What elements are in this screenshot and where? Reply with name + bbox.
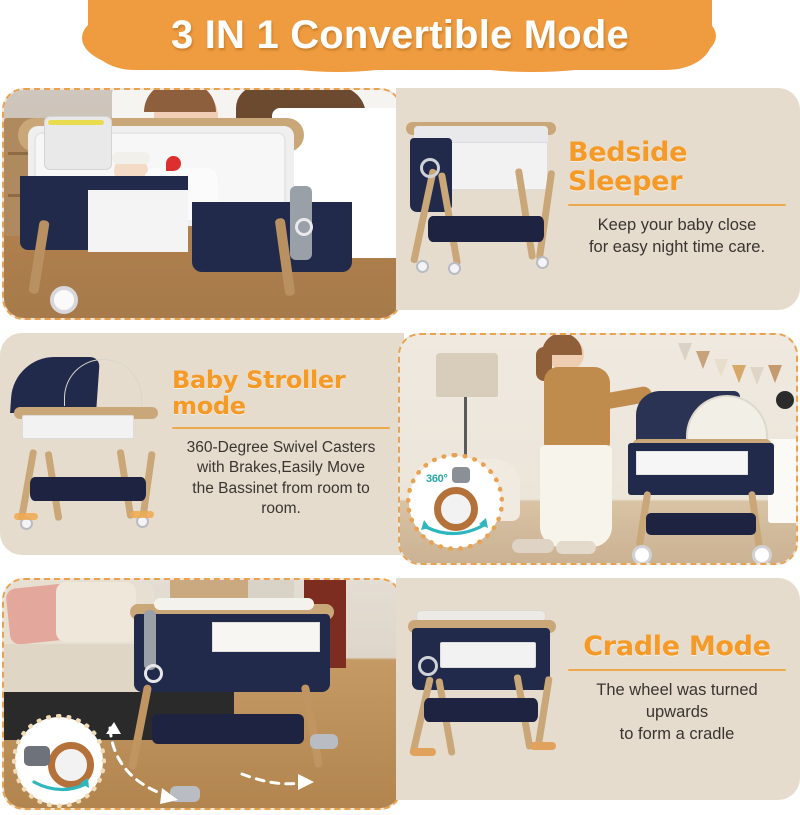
baby-toy xyxy=(166,156,181,171)
photo-cradle-mode xyxy=(2,578,402,810)
rocker-foot-left xyxy=(410,748,436,756)
storage-basket xyxy=(428,216,544,242)
cradle-adjuster xyxy=(144,610,156,670)
product-render-stroller xyxy=(0,333,168,555)
wheel-mid xyxy=(448,262,461,275)
wheel-rotation-arrow-icon xyxy=(30,774,90,796)
caster-stem-icon xyxy=(452,467,470,483)
photo-wheel-left xyxy=(632,545,652,565)
divider-bedside xyxy=(568,204,786,206)
body-stroller-line1: 360-Degree Swivel Casters xyxy=(172,438,390,458)
heading-bedside-sleeper: Bedside Sleeper xyxy=(568,139,786,196)
swivel-indicator-left xyxy=(14,513,38,520)
text-bedside-sleeper: Bedside Sleeper Keep your baby close for… xyxy=(564,139,800,258)
sofa-pillow-cream xyxy=(56,582,136,642)
wheel-left xyxy=(416,260,429,273)
mother-hair xyxy=(144,88,216,112)
body-bedside-line2: for easy night time care. xyxy=(568,237,786,259)
cradle-adjuster-knob xyxy=(144,664,163,683)
text-cradle-mode: Cradle Mode The wheel was turned upwards… xyxy=(564,633,800,746)
body-bedside-line1: Keep your baby close xyxy=(568,215,786,237)
wall-clock xyxy=(776,391,794,409)
swivel-caster-badge: 360° xyxy=(412,459,498,545)
heading-cradle-mode: Cradle Mode xyxy=(568,633,786,661)
text-baby-stroller: Baby Stroller mode 360-Degree Swivel Cas… xyxy=(168,368,404,519)
adjuster-knob xyxy=(295,218,313,236)
swivel-indicator-right xyxy=(130,511,154,518)
floor-lamp-shade xyxy=(436,353,498,397)
mesh-window xyxy=(440,642,536,668)
cradle-top-board xyxy=(154,598,314,610)
product-render-cradle xyxy=(396,578,564,800)
divider-stroller xyxy=(172,427,390,429)
page-title: 3 IN 1 Convertible Mode xyxy=(88,0,712,70)
body-stroller-line2: with Brakes,Easily Move xyxy=(172,458,390,478)
scene-living-room xyxy=(4,580,400,808)
mesh-window xyxy=(22,415,134,439)
header-banner: 3 IN 1 Convertible Mode xyxy=(88,0,712,70)
rotation-arrows-icon xyxy=(420,511,490,539)
caster-bracket-icon xyxy=(24,746,50,766)
bassinet-illustration-cradle xyxy=(402,602,560,778)
info-cradle-mode: Cradle Mode The wheel was turned upwards… xyxy=(396,578,800,800)
heading-baby-stroller: Baby Stroller mode xyxy=(172,368,390,418)
panel-baby-stroller-mode: Baby Stroller mode 360-Degree Swivel Cas… xyxy=(0,333,800,565)
storage-basket xyxy=(424,698,538,722)
baby-headband xyxy=(112,152,150,164)
woman-slipper xyxy=(512,539,554,553)
badge-360-label: 360° xyxy=(426,473,448,485)
bassinet-lower-fabric xyxy=(192,202,352,272)
bassinet-mesh-panel xyxy=(88,190,188,252)
photo-baby-stroller: 360° xyxy=(398,333,798,565)
bassinet-wheel xyxy=(50,286,78,314)
rocker-foot-right xyxy=(530,742,556,750)
bassinet-illustration-hood xyxy=(6,357,164,533)
photo-wheel-right xyxy=(752,545,772,565)
woman-slipper-2 xyxy=(556,541,596,554)
divider-cradle xyxy=(568,669,786,671)
bassinet-illustration xyxy=(402,112,560,288)
storage-basket xyxy=(30,477,146,501)
scene-nursery: 360° xyxy=(400,335,796,563)
woman-skirt xyxy=(540,445,612,547)
pocket-zip xyxy=(48,120,104,125)
product-render-bedside xyxy=(396,88,564,310)
adjuster-knob-render xyxy=(420,158,440,178)
panel-bedside-sleeper: Bedside Sleeper Keep your baby close for… xyxy=(0,88,800,320)
photo-bedside-sleeper xyxy=(2,88,402,320)
sofa-seat xyxy=(4,644,154,692)
info-baby-stroller: Baby Stroller mode 360-Degree Swivel Cas… xyxy=(0,333,404,555)
infographic-page: 3 IN 1 Convertible Mode xyxy=(0,0,800,815)
info-bedside-sleeper: Bedside Sleeper Keep your baby close for… xyxy=(396,88,800,310)
photo-basket xyxy=(646,513,756,535)
body-cradle-line1: The wheel was turned upwards xyxy=(568,680,786,724)
rocking-motion-arrows xyxy=(92,722,322,810)
body-cradle-line2: to form a cradle xyxy=(568,724,786,746)
body-stroller-line3: the Bassinet from room to room. xyxy=(172,479,390,520)
panel-cradle-mode: Cradle Mode The wheel was turned upwards… xyxy=(0,578,800,810)
wheel-right xyxy=(536,256,549,269)
cradle-mesh xyxy=(212,622,320,652)
scene-bedroom xyxy=(4,90,400,318)
wheel-up-badge xyxy=(18,720,100,802)
adjuster-knob-render xyxy=(418,656,438,676)
mesh-window xyxy=(442,142,548,190)
photo-mesh xyxy=(636,451,748,475)
